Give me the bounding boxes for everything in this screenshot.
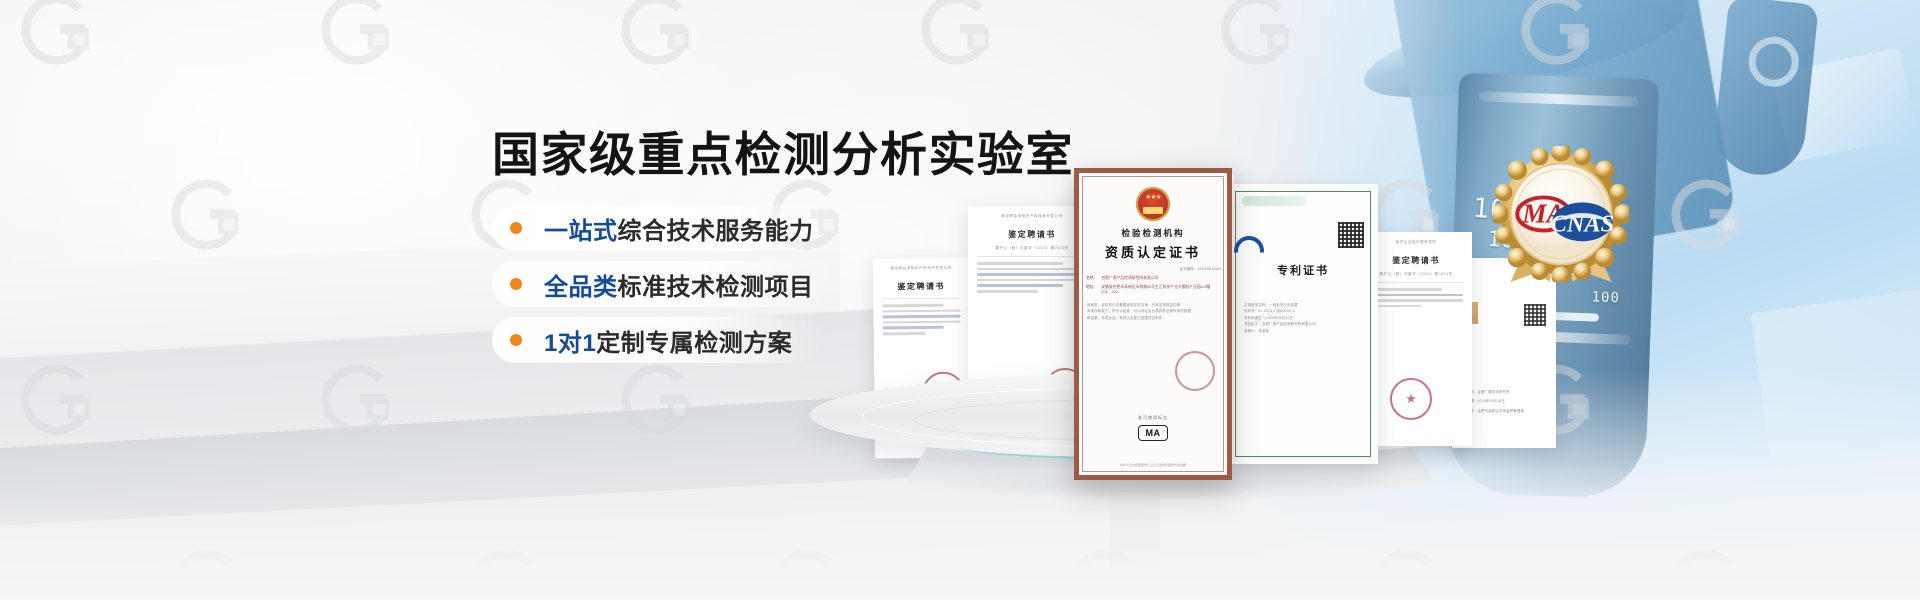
cert4-org: 商开企业知识原来学所 [1369,240,1463,245]
cert1-org: 庸治举会深知识产权技术开发公司 [882,266,960,272]
cert2-line [977,290,1038,293]
objective-band-upper [1478,91,1638,107]
cert2-title: 鉴定聘请书 [977,229,1087,240]
cert2-number: 康开公（皖）中鉴字（2024）第0023号 [977,246,1087,251]
patent-top-ornament [1242,196,1306,206]
cert4-title: 鉴定聘请书 [1369,255,1463,266]
cert4-red-seal [1390,378,1432,420]
cert1-line [883,326,944,329]
cert4-number: 康开公（皖）司鉴字（2024）第0024号 [1369,272,1463,277]
patent-line: 发明人：张某某 [1244,328,1364,334]
feature-list: 一站式综合技术服务能力 全品类标准技术检测项目 1对1定制专属检测方案 [492,205,840,373]
cert1-line [882,309,960,312]
national-emblem-icon [1136,187,1170,221]
cg-watermark-icon [160,535,256,600]
cg-watermark-icon [460,535,556,600]
cert-main-ma-label: 准可使用标志 [1079,415,1227,421]
cert1-line [883,320,961,323]
feature-item-1-highlight: 一站式 [544,218,618,245]
cg-watermark-icon [610,0,706,76]
feature-item-3-rest: 定制专属检测方案 [596,330,792,357]
feature-item-1-rest: 综合技术服务能力 [618,218,814,245]
cg-watermark-icon [910,0,1006,76]
cg-watermark-icon [10,0,106,76]
feature-item-2[interactable]: 全品类标准技术检测项目 [492,261,840,307]
cert-main-red-seal [1175,351,1215,391]
hero-banner: 100/1.25 160/0.17 100 100 [0,0,1920,600]
cert4-line [1369,288,1442,291]
bullet-dot-icon [510,334,522,346]
feature-item-3-highlight: 1对1 [544,330,596,357]
cert2-org: 商治举会深知识产权技术开发公司 [977,214,1087,219]
certificate-qualification-main: 检验检测机构 资质认定证书 证书编号：191209011549 名称： 合肥广源… [1074,168,1232,480]
patent-qr-code-icon [1338,222,1364,248]
license-value: 合肥市高新区市场监督管理局 [1477,408,1524,414]
license-value: 合肥广源检测研究所 [1477,389,1509,395]
license-row: 成立日期 2019年05月15日 [1460,398,1548,404]
cert4-rule [1369,282,1463,283]
license-fields: 名称名称 合肥广源检测研究所 成立日期 2019年05月15日 登记机关 合肥市… [1460,389,1548,414]
cert2-line [977,268,1087,271]
cert1-line [883,332,926,335]
bullet-dot-icon [510,222,522,234]
cg-watermark-icon [10,350,106,446]
objective-mag-right: 100 [1591,289,1620,306]
patent-body: 实用新型名称：一种检测分析装置 专利号：ZL 2024 2 0000000.1 … [1244,302,1364,334]
bullet-dot-icon [510,278,522,290]
license-qr-code-icon [1524,304,1546,326]
feature-item-3-text: 1对1定制专属检测方案 [544,323,792,358]
cg-watermark-icon [160,165,256,261]
cert1-rule [882,298,960,300]
cert2-rule [977,256,1087,257]
feature-item-1-text: 一站式综合技术服务能力 [544,211,814,246]
cg-watermark-icon [1060,535,1156,600]
cg-watermark-icon [310,0,406,76]
feature-item-2-text: 全品类标准技术检测项目 [544,267,814,302]
page-title: 国家级重点检测分析实验室 [492,129,1074,181]
license-row: 名称名称 合肥广源检测研究所 [1460,389,1548,395]
feature-item-1[interactable]: 一站式综合技术服务能力 [492,205,840,251]
cg-watermark-icon [760,535,856,600]
feature-item-3[interactable]: 1对1定制专属检测方案 [492,317,822,363]
seal-cnas-text: CNAS [1551,210,1614,237]
patent-title: 专利证书 [1228,262,1378,278]
cert2-line [977,279,1087,282]
feature-item-2-rest: 标准技术检测项目 [618,274,814,301]
cert1-line [882,304,943,307]
certificate-patent: 专利证书 CNIPA 实用新型名称：一种检测分析装置 专利号：ZL 2024 2… [1228,184,1378,464]
cert1-title: 鉴定聘请书 [882,281,960,293]
cert-main-footer: 中华人民共和国国家认证认可监督管理委员会监制 [1079,463,1227,467]
cg-watermark-icon [310,350,406,446]
license-value: 2019年05月15日 [1477,398,1504,404]
ma-mark-icon: MA [1138,425,1168,441]
cert4-line [1369,299,1463,302]
ma-cnas-accreditation-seal: MA CNAS [1493,146,1629,282]
cert2-line [977,273,1087,276]
cert4-line [1369,294,1463,297]
cert2-line [977,262,1063,265]
cert2-line [977,284,1063,287]
feature-item-2-highlight: 全品类 [544,274,618,301]
cert1-line [883,315,961,318]
license-row: 登记机关 合肥市高新区市场监督管理局 [1460,408,1548,414]
